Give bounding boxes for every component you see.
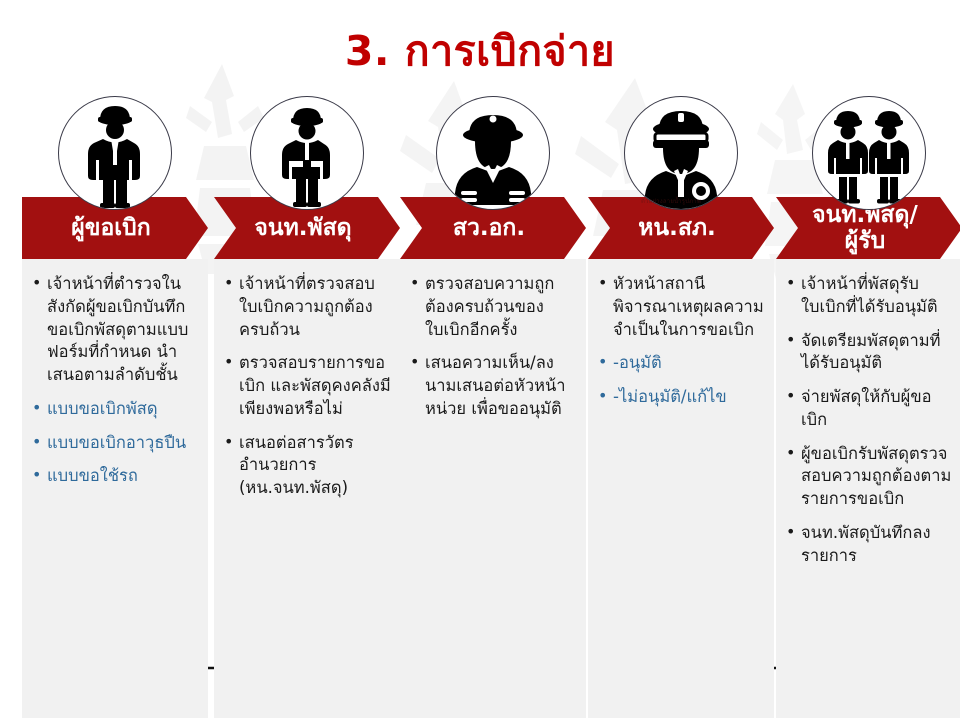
police-officer-belt-icon bbox=[250, 96, 364, 210]
list-item: จ่ายพัสดุให้กับผู้ขอเบิก bbox=[782, 386, 954, 432]
police-officer-bust-icon bbox=[436, 96, 550, 210]
two-police-officers-icon bbox=[812, 96, 926, 210]
list-item: เจ้าหน้าที่พัสดุรับใบเบิกที่ได้รับอนุมัต… bbox=[782, 273, 954, 319]
list-item: เสนอต่อสารวัตรอำนวยการ (หน.จนท.พัสดุ) bbox=[220, 432, 392, 500]
police-officer-badge-icon bbox=[624, 96, 738, 210]
step-2-bullet-list: เจ้าหน้าที่ตรวจสอบใบเบิกความถูกต้องครบถ้… bbox=[220, 273, 392, 500]
list-item: เจ้าหน้าที่ตำรวจในสังกัดผู้ขอเบิกบันทึกข… bbox=[28, 273, 200, 387]
list-item: ผู้ขอเบิกรับพัสดุตรวจสอบความถูกต้องตามรา… bbox=[782, 443, 954, 511]
list-item: ตรวจสอบรายการขอเบิก และพัสดุคงคลังมีเพีย… bbox=[220, 352, 392, 420]
step-2-card: เจ้าหน้าที่ตรวจสอบใบเบิกความถูกต้องครบถ้… bbox=[214, 259, 400, 718]
list-item: ตรวจสอบความถูกต้องครบถ้วนของใบเบิกอีกครั… bbox=[406, 273, 578, 341]
slide-canvas: 3. การเบิกจ่าย ผู้ข bbox=[0, 0, 960, 720]
list-item: แบบขอเบิกพัสดุ bbox=[28, 398, 200, 421]
step-3-header-label: สว.อก. bbox=[453, 215, 525, 241]
page-title: 3. การเบิกจ่าย bbox=[0, 28, 960, 75]
step-4-bullet-list: หัวหน้าสถานีพิจารณาเหตุผลความจำเป็นในการ… bbox=[594, 273, 766, 409]
step-4-card: หัวหน้าสถานีพิจารณาเหตุผลความจำเป็นในการ… bbox=[588, 259, 774, 718]
step-5-card: เจ้าหน้าที่พัสดุรับใบเบิกที่ได้รับอนุมัต… bbox=[776, 259, 960, 718]
list-item: หัวหน้าสถานีพิจารณาเหตุผลความจำเป็นในการ… bbox=[594, 273, 766, 341]
step-1-bullet-list: เจ้าหน้าที่ตำรวจในสังกัดผู้ขอเบิกบันทึกข… bbox=[28, 273, 200, 488]
police-officer-standing-icon bbox=[58, 96, 172, 210]
step-3-card: ตรวจสอบความถูกต้องครบถ้วนของใบเบิกอีกครั… bbox=[400, 259, 586, 718]
step-5-header-label-line2: ผู้รับ bbox=[812, 228, 918, 254]
step-3-bullet-list: ตรวจสอบความถูกต้องครบถ้วนของใบเบิกอีกครั… bbox=[406, 273, 578, 421]
list-item: แบบขอใช้รถ bbox=[28, 465, 200, 488]
list-item: เสนอความเห็น/ลงนามเสนอต่อหัวหน้าหน่วย เพ… bbox=[406, 352, 578, 420]
list-item: -อนุมัติ bbox=[594, 352, 766, 375]
step-2-header-label: จนท.พัสดุ bbox=[254, 215, 351, 241]
step-4-header-label: หน.สภ. bbox=[638, 215, 716, 241]
step-1-card: เจ้าหน้าที่ตำรวจในสังกัดผู้ขอเบิกบันทึกข… bbox=[22, 259, 208, 718]
list-item: จนท.พัสดุบันทึกลงรายการ bbox=[782, 522, 954, 568]
step-1-header-label: ผู้ขอเบิก bbox=[71, 215, 150, 241]
list-item: -ไม่อนุมัติ/แก้ไข bbox=[594, 386, 766, 409]
list-item: เจ้าหน้าที่ตรวจสอบใบเบิกความถูกต้องครบถ้… bbox=[220, 273, 392, 341]
step-5-bullet-list: เจ้าหน้าที่พัสดุรับใบเบิกที่ได้รับอนุมัต… bbox=[782, 273, 954, 567]
list-item: แบบขอเบิกอาวุธปืน bbox=[28, 432, 200, 455]
list-item: จัดเตรียมพัสดุตามที่ได้รับอนุมัติ bbox=[782, 330, 954, 376]
